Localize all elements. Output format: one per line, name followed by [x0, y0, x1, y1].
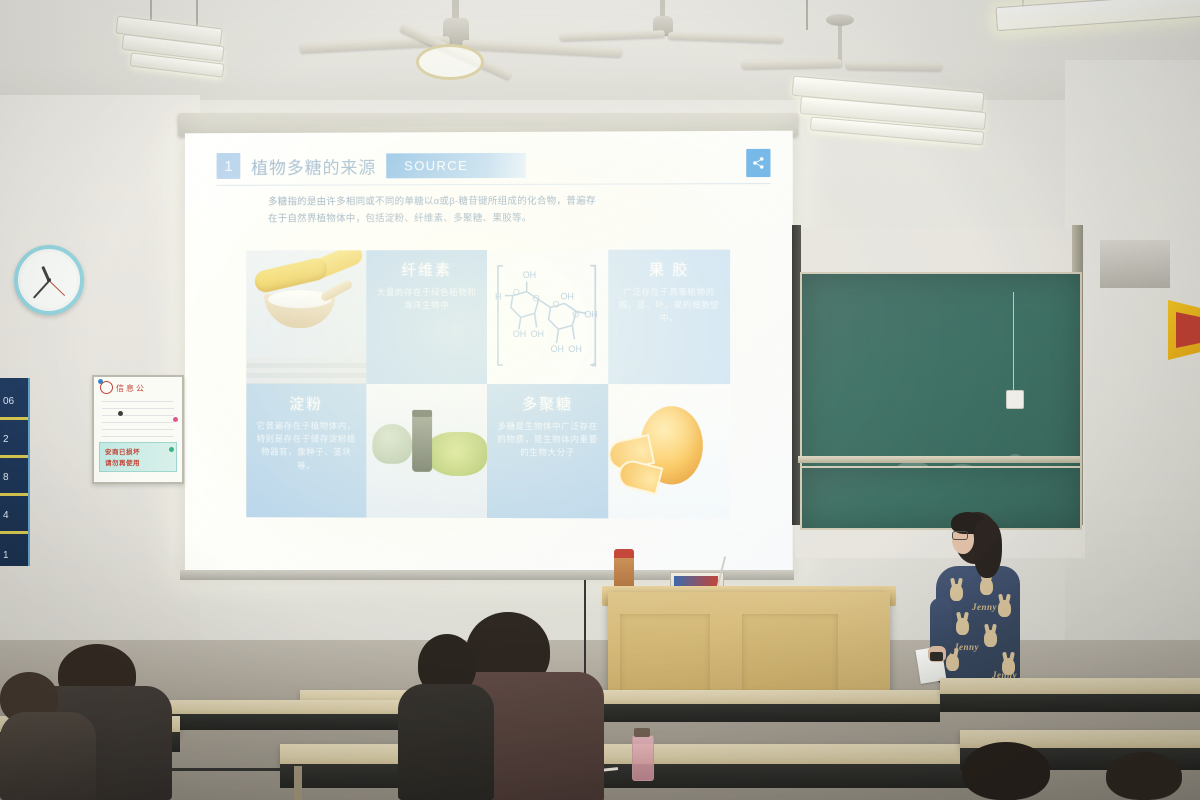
notice-banner-line-1: 安商已损坏: [105, 448, 140, 458]
sweater-text-2: Jenny: [954, 642, 979, 652]
slide-body-line-1: 多糖指的是由许多相同或不同的单糖以α或β-糖苷键所组成的化合物，普遍存: [268, 193, 748, 211]
projector-screen: 1 植物多糖的来源 SOURCE 多糖指的是由许多相同或不同的单糖以α或β-糖苷…: [185, 131, 793, 574]
schedule-value-0: 06: [0, 386, 28, 420]
blackboard-lower: [800, 466, 1082, 530]
schedule-banner: 06 2 8 4 1: [0, 378, 30, 566]
schedule-value-4: 1: [0, 538, 28, 572]
presenter-hair-side: [974, 520, 1002, 578]
safety-sign-inner: [1176, 312, 1200, 348]
svg-text:OH: OH: [584, 309, 597, 319]
schedule-value-1: 2: [0, 424, 28, 458]
svg-text:O: O: [533, 293, 540, 303]
podium-panel-right: [742, 614, 838, 700]
slide-title-en: SOURCE: [386, 152, 526, 178]
presentation-remote[interactable]: [930, 652, 943, 661]
notice-board: 信息公 安商已损坏 请勿再使用: [92, 375, 184, 484]
power-cable-wall: [584, 580, 586, 676]
notice-banner-line-2: 请勿再使用: [105, 459, 140, 469]
desk-row-3-front: [280, 764, 980, 788]
corn-starch-photo: [246, 250, 366, 384]
card-polysaccharide-heading: 多聚糖: [522, 393, 573, 414]
podium-panel-left: [620, 614, 710, 700]
light-switch-cord: [1013, 292, 1014, 390]
card-cellulose: 纤维素 大量的存在于绿色植物和海洋生物中: [366, 250, 487, 384]
thermos-cap: [614, 549, 634, 558]
card-starch: 淀粉 它普遍存在于植物体内，特别是存在于储存淀粉植物器官，像种子、茎块等。: [246, 384, 366, 518]
notice-warning-banner: 安商已损坏 请勿再使用: [99, 442, 177, 472]
svg-text:O: O: [572, 309, 579, 319]
pin-blue: [98, 379, 103, 384]
card-polysaccharide: 多聚糖 多糖是生物体中广泛存在的物质，是生物体内重要的生物大分子: [487, 384, 608, 518]
card-pectin-text: 广泛存在于高等植物的根、茎、叶、果的细胞壁中。: [615, 286, 723, 326]
slide-title-cn: 植物多糖的来源: [251, 153, 376, 178]
presentation-slide: 1 植物多糖的来源 SOURCE 多糖指的是由许多相同或不同的单糖以α或β-糖苷…: [185, 131, 793, 574]
slide-body-line-2: 在于自然界植物体中，包括淀粉、纤维素、多聚糖、果胶等。: [268, 210, 748, 228]
notice-body-lines: [102, 401, 174, 441]
header-divider: [217, 183, 771, 186]
svg-text:O: O: [553, 299, 560, 309]
chemical-structure: OH H OH OH OH OH OH OH O O O: [487, 250, 608, 384]
svg-text:H: H: [495, 292, 501, 302]
card-cellulose-heading: 纤维素: [401, 259, 452, 280]
card-starch-text: 它普遍存在于植物体内，特别是存在于储存淀粉植物器官，像种子、茎块等。: [253, 420, 359, 473]
card-starch-heading: 淀粉: [289, 393, 323, 414]
svg-text:OH: OH: [513, 329, 526, 339]
podium-nameplate-label: [674, 576, 718, 586]
clock-second-hand: [49, 280, 66, 296]
presenter-glasses: [952, 531, 968, 540]
orange-jelly-photo: [608, 384, 730, 519]
share-nodes-icon: [746, 149, 770, 177]
card-pectin: 果 胶 广泛存在于高等植物的根、茎、叶、果的细胞壁中。: [608, 250, 730, 385]
thermos-bottle: [614, 556, 634, 590]
schedule-value-2: 8: [0, 462, 28, 496]
pin-green: [169, 447, 174, 452]
wall-vent: [1100, 240, 1170, 288]
schedule-value-3: 4: [0, 500, 28, 534]
pin-dark: [118, 411, 123, 416]
svg-text:OH: OH: [568, 344, 581, 354]
light-switch[interactable]: [1006, 390, 1024, 409]
chalk-tray: [798, 456, 1080, 463]
slide-body-text: 多糖指的是由许多相同或不同的单糖以α或β-糖苷键所组成的化合物，普遍存 在于自然…: [268, 193, 748, 228]
svg-text:OH: OH: [531, 329, 544, 339]
green-vegetables-photo: [366, 384, 487, 518]
slide-header: 1 植物多糖的来源 SOURCE: [217, 147, 769, 183]
card-pectin-heading: 果 胶: [649, 259, 689, 280]
sweater-text-1: Jenny: [972, 602, 997, 612]
slide-number-badge: 1: [217, 153, 241, 179]
card-cellulose-text: 大量的存在于绿色植物和海洋生物中: [373, 286, 480, 312]
desk-row-right-front: [940, 694, 1200, 712]
slide-content-grid: 纤维素 大量的存在于绿色植物和海洋生物中: [246, 250, 730, 519]
clock-minute-hand: [33, 280, 50, 298]
desk-leg-2: [294, 766, 302, 800]
wall-clock: [14, 245, 84, 315]
desk-row-3: [280, 744, 980, 766]
right-wall: [1065, 60, 1200, 680]
svg-text:OH: OH: [560, 291, 573, 301]
svg-text:O: O: [513, 288, 520, 298]
pin-pink: [173, 417, 178, 422]
classroom-scene: 1 植物多糖的来源 SOURCE 多糖指的是由许多相同或不同的单糖以α或β-糖苷…: [0, 0, 1200, 800]
pink-water-bottle: [632, 735, 654, 781]
svg-text:OH: OH: [523, 270, 536, 280]
notice-title: 信息公: [116, 383, 146, 394]
card-polysaccharide-text: 多糖是生物体中广泛存在的物质，是生物体内重要的生物大分子: [494, 420, 601, 460]
svg-text:OH: OH: [551, 344, 564, 354]
water-bottle-cap: [634, 728, 650, 737]
svg-text:n: n: [592, 362, 596, 369]
